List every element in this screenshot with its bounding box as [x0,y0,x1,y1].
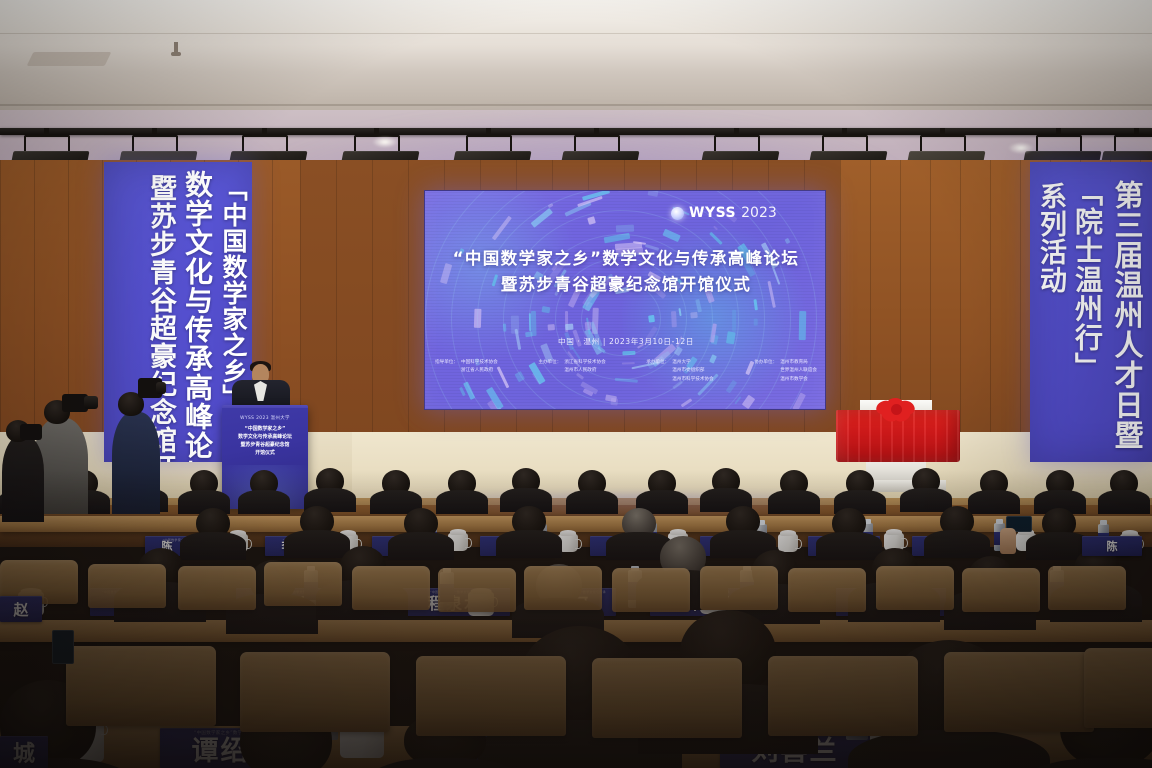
organizer-value: 世界温州人联谊会 [780,367,817,375]
audience-chair-front-1 [66,646,216,726]
screen-logo-text: WYSS [689,205,736,221]
audience-chair-front-6 [944,652,1094,732]
audience-shoulders-row3-4 [496,530,562,558]
conference-hall-photo: 「中国数学家之乡」 数学文化与传承高峰论坛 暨苏步青谷超豪纪念馆开馆仪式 第三届… [0,0,1152,768]
ceiling-slab [0,0,1152,34]
audience-chair-mid-6 [438,568,516,612]
light-flare-1 [372,136,398,148]
bow-knot [891,404,902,415]
audience-chair-front-2 [240,652,390,732]
audience-shoulders-row3-2 [284,530,350,558]
foreground-phone-screen [52,630,74,664]
organizer-value: 温州市委组织部 [672,367,713,375]
audience-chair-mid-7 [524,566,602,610]
audience-chair-mid-8 [612,568,690,612]
audience-chair-mid-10 [788,568,866,612]
ceiling-vent [27,52,112,66]
banner-left-line1: 「中国数学家之乡」 [220,176,246,410]
screen-logo: WYSS 2023 [671,205,777,221]
audience-chair-mid-11 [876,566,954,610]
audience-shoulders-row3-1 [180,532,246,560]
organizer-values: 中国科学技术协会浙江省人民政府 [461,359,498,376]
led-banner-right: 第三届温州人才日暨 「院士温州行」 系列活动 [1030,162,1152,462]
name-placard-edge-left-2: 城 [0,736,48,768]
audience-shoulders-row3-3 [388,532,454,560]
organizer-value: 浙江省人民政府 [461,367,498,375]
lighting-truss [0,128,1152,135]
banner-right-line3: 系列活动 [1036,182,1064,294]
camera-lens-icon-2 [156,382,166,394]
organizer-value: 温州市教育局 [780,359,817,367]
name-placard-edge-left-1: 赵 [0,596,42,622]
podium-title-line: 数学文化与传承高峰论坛 [222,433,308,441]
organizer-label: 协办单位： [754,359,777,384]
photographer-2-body [112,412,160,514]
organizer-block-4: 协办单位：温州市教育局世界温州人联谊会温州市数学会 [754,359,817,384]
audience-shoulders-far-8 [436,490,488,514]
audience-chair-mid-2 [88,564,166,608]
audience-chair-front-3 [416,656,566,736]
podium-top [222,405,308,408]
audience-chair-mid-4 [264,562,342,606]
audience-shoulders-row3-8 [924,530,990,558]
audience-chair-mid-9 [700,566,778,610]
banner-right-line1: 第三届温州人才日暨 [1112,180,1142,450]
audience-chair-mid-12 [962,568,1040,612]
organizer-values: 浙江省科学技术协会温州市人民政府 [564,359,605,376]
screen-title-line1: “中国数学家之乡”数学文化与传承高峰论坛 [425,245,826,269]
audience-chair-front-4 [592,658,742,738]
banner-right-line2: 「院士温州行」 [1073,178,1102,381]
light-flare-2 [1008,142,1034,154]
organizer-value: 中国科学技术协会 [461,359,498,367]
organizer-value: 温州市数学会 [780,376,817,384]
podium-title-text: “中国数学家之乡”数学文化与传承高峰论坛暨苏步青谷超豪纪念馆开馆仪式 [222,425,308,457]
audience-shoulders-far-5 [238,490,290,514]
screen-organizer-row: 指导单位：中国科学技术协会浙江省人民政府主办单位：浙江省科学技术协会温州市人民政… [435,359,817,384]
screen-event-meta: 中国 · 温州 | 2023年3月10日-12日 [425,336,826,347]
photographer-3-body [2,436,44,522]
organizer-label: 主办单位： [538,359,561,376]
ceiling-edge-line [0,104,1152,106]
audience-raised-hand [1000,528,1016,554]
organizer-block-2: 主办单位：浙江省科学技术协会温州市人民政府 [538,359,605,376]
organizer-value: 温州市人民政府 [564,367,605,375]
audience-chair-front-5 [768,656,918,736]
organizer-values: 温州市教育局世界温州人联谊会温州市数学会 [780,359,817,384]
red-bow-icon [876,399,916,421]
camera-lens-icon-1 [84,396,98,409]
podium-logo: WYSS 2023 温州大学 [222,415,308,421]
organizer-value: 温州大学 [672,359,713,367]
audience-chair-mid-13 [1048,566,1126,610]
name-placard-edge-right: 陈 [1082,536,1142,556]
organizer-label: 指导单位： [435,359,458,376]
photographer-3-camera [20,424,42,440]
screen-logo-year: 2023 [741,205,777,221]
organizer-block-3: 承办单位：温州大学温州市委组织部温州市科学技术协会 [646,359,713,384]
sprinkler-icon [174,42,178,54]
main-led-screen: WYSS 2023 “中国数学家之乡”数学文化与传承高峰论坛 暨苏步青谷超豪纪念… [424,190,826,410]
audience-shoulders-far-16 [968,490,1020,514]
organizer-block-1: 指导单位：中国科学技术协会浙江省人民政府 [435,359,498,376]
audience-shoulders-far-15 [900,488,952,512]
audience-table-row-1 [0,516,1152,532]
podium-title-line: “中国数学家之乡” [222,425,308,433]
audience-chair-mid-3 [178,566,256,610]
audience-shoulders-far-10 [566,490,618,514]
audience-chair-front-7 [1084,648,1152,728]
organizer-value: 温州市科学技术协会 [672,376,713,384]
organizer-values: 温州大学温州市委组织部温州市科学技术协会 [672,359,713,384]
wyss-emblem-icon [671,207,684,220]
audience-shoulders-far-13 [768,490,820,514]
podium-title-line: 暨苏步青谷超豪纪念馆 [222,441,308,449]
screen-title-line2: 暨苏步青谷超豪纪念馆开馆仪式 [425,271,826,295]
audience-chair-mid-5 [352,566,430,610]
organizer-value: 浙江省科学技术协会 [564,359,605,367]
tea-mug-row3-6 [778,534,798,552]
audience-shoulders-far-18 [1098,490,1150,514]
organizer-label: 承办单位： [646,359,669,384]
banner-left-line2: 数学文化与传承高峰论坛 [183,170,212,462]
podium-title-line: 开馆仪式 [222,449,308,457]
audience-shoulders-row3-7 [816,532,882,560]
